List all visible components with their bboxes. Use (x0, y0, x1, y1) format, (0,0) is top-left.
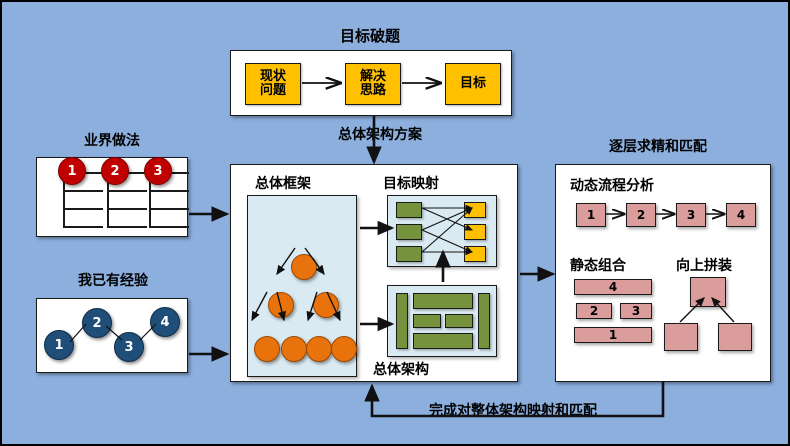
experience-node-2[interactable]: 2 (82, 308, 112, 338)
mapping-source-2[interactable] (396, 224, 422, 240)
goal-step-3[interactable]: 目标 (445, 63, 501, 105)
arch-box-mid-left[interactable] (413, 314, 441, 328)
framework-box (247, 195, 357, 377)
mapping-source-1[interactable] (396, 202, 422, 218)
architecture-title: 总体架构 (373, 359, 429, 379)
tree-node-l2b[interactable] (281, 336, 307, 362)
mapping-target-3[interactable] (464, 246, 486, 262)
diagram-canvas: 目标破题 现状 问题 解决 思路 目标 总体架构方案 业界做法 (0, 0, 790, 446)
goal-step-2-line2: 思路 (360, 83, 386, 98)
tree-node-l2c[interactable] (306, 336, 332, 362)
goal-flow-panel: 现状 问题 解决 思路 目标 (230, 50, 512, 116)
industry-marker-2[interactable]: 2 (101, 157, 129, 185)
arch-bar-left[interactable] (396, 293, 408, 349)
experience-title: 我已有经验 (78, 274, 148, 288)
arch-bar-top[interactable] (413, 293, 473, 309)
arch-bar-bottom[interactable] (413, 333, 473, 349)
tree-node-l1a[interactable] (268, 292, 294, 318)
arch-bar-right[interactable] (478, 293, 490, 349)
dynamic-step-2[interactable]: 2 (626, 203, 656, 227)
mapping-source-3[interactable] (396, 246, 422, 262)
experience-node-4[interactable]: 4 (150, 307, 180, 337)
industry-marker-1[interactable]: 1 (58, 157, 86, 185)
mapping-target-1[interactable] (464, 202, 486, 218)
assembly-parent-box[interactable] (690, 277, 726, 307)
mapping-title: 目标映射 (383, 173, 439, 193)
mapping-target-2[interactable] (464, 224, 486, 240)
right-panel: 动态流程分析 1 2 3 4 静态组合 向上拼装 4 2 3 1 (555, 164, 771, 382)
dynamic-step-3[interactable]: 3 (676, 203, 706, 227)
experience-node-1[interactable]: 1 (44, 330, 74, 360)
static-composition-title: 静态组合 (570, 255, 626, 275)
industry-marker-3[interactable]: 3 (144, 157, 172, 185)
architecture-box (387, 285, 497, 357)
dynamic-step-1[interactable]: 1 (576, 203, 606, 227)
tree-node-l2d[interactable] (331, 336, 357, 362)
goal-step-2[interactable]: 解决 思路 (345, 63, 401, 105)
dynamic-flow-title: 动态流程分析 (570, 175, 654, 195)
framework-title: 总体框架 (255, 173, 311, 193)
tree-node-l1b[interactable] (313, 292, 339, 318)
arch-box-mid-right[interactable] (445, 314, 473, 328)
middle-panel: 总体框架 目标映射 总体架构 (230, 164, 518, 382)
mapping-box (387, 195, 497, 267)
arch-scheme-label: 总体架构方案 (338, 128, 422, 142)
static-row1-box-4[interactable]: 4 (574, 279, 652, 295)
dynamic-step-4[interactable]: 4 (726, 203, 756, 227)
assembly-child-right-box[interactable] (718, 323, 752, 351)
industry-title: 业界做法 (84, 134, 140, 148)
goal-step-1[interactable]: 现状 问题 (245, 63, 301, 105)
goal-step-1-line2: 问题 (260, 83, 286, 98)
experience-node-3[interactable]: 3 (114, 332, 144, 362)
upward-assembly-title: 向上拼装 (676, 255, 732, 275)
right-panel-title: 逐层求精和匹配 (609, 140, 707, 154)
tree-node-root[interactable] (291, 254, 317, 280)
assembly-child-left-box[interactable] (664, 323, 698, 351)
feedback-label: 完成对整体架构映射和匹配 (429, 404, 597, 418)
goal-flow-title: 目标破题 (340, 29, 400, 44)
static-row2-box-3[interactable]: 3 (620, 303, 652, 319)
static-row3-box-1[interactable]: 1 (574, 327, 652, 343)
goal-step-3-line1: 目标 (460, 77, 486, 91)
static-row2-box-2[interactable]: 2 (576, 303, 612, 319)
tree-node-l2a[interactable] (254, 336, 280, 362)
